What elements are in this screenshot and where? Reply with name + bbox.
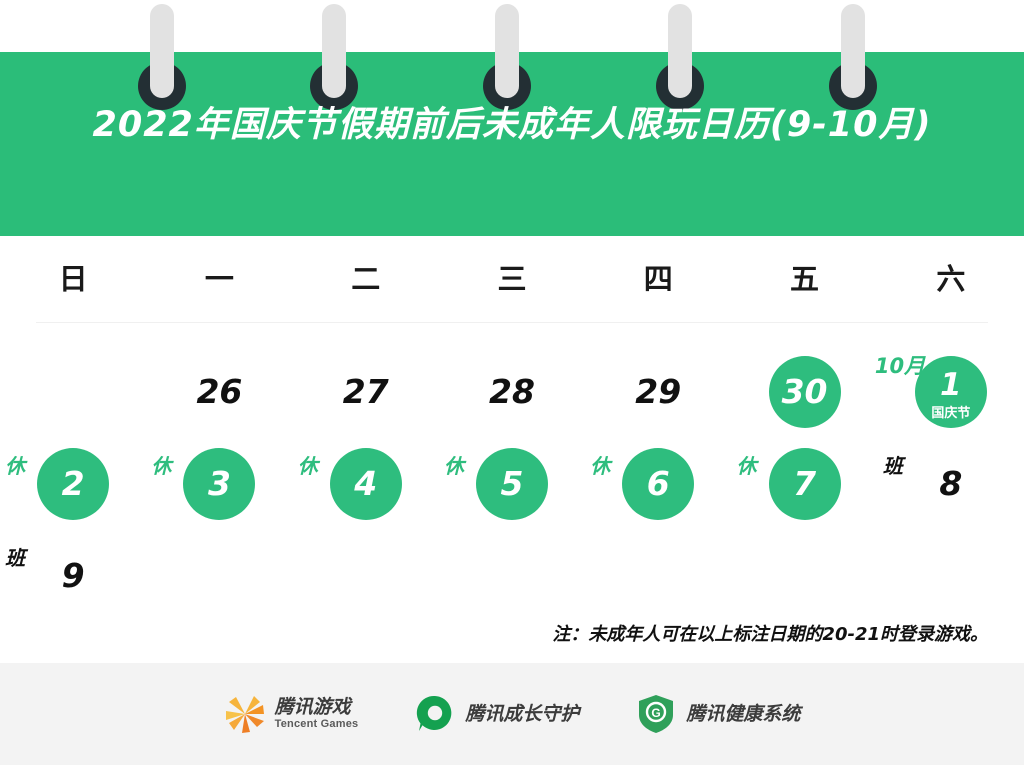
calendar-day-marker — [37, 356, 109, 428]
calendar-day-marker — [183, 540, 255, 612]
calendar-day-cell[interactable]: 休7 — [731, 438, 877, 530]
rest-day-badge: 休 — [151, 450, 171, 479]
calendar-body: 日 一 二 三 四 五 六 262728293010月1国庆节 休2休3休4休5… — [0, 236, 1024, 663]
tencent-health-system-shield-icon: G — [635, 693, 677, 735]
calendar-day-marker: 26 — [183, 356, 255, 428]
calendar-day-number: 26 — [183, 356, 255, 428]
calendar-day-marker: 休4 — [330, 448, 402, 520]
rest-day-badge: 休 — [444, 450, 464, 479]
rest-day-badge: 休 — [590, 450, 610, 479]
calendar-day-number: 7 — [769, 448, 841, 520]
calendar-week-row: 262728293010月1国庆节 — [0, 346, 1024, 438]
footer-logo-name-cn: 腾讯健康系统 — [686, 704, 800, 725]
calendar-day-marker — [330, 540, 402, 612]
footer-logo-text: 腾讯成长守护 — [465, 704, 579, 725]
weekday-wed: 三 — [439, 236, 585, 322]
footer-logo-name-cn: 腾讯成长守护 — [465, 704, 579, 725]
calendar-day-number: 27 — [330, 356, 402, 428]
holiday-name-label: 国庆节 — [915, 402, 987, 421]
calendar-empty-cell — [585, 530, 731, 622]
calendar-empty-cell — [439, 530, 585, 622]
weekday-sun: 日 — [0, 236, 146, 322]
calendar-day-cell[interactable]: 26 — [146, 346, 292, 438]
footer-logo[interactable]: 腾讯成长守护 — [414, 693, 579, 735]
weekday-header-row: 日 一 二 三 四 五 六 — [0, 236, 1024, 322]
calendar-day-number: 8 — [915, 448, 987, 520]
calendar-day-cell[interactable]: 10月1国庆节 — [878, 346, 1024, 438]
calendar-day-number: 29 — [622, 356, 694, 428]
calendar-day-number: 2 — [37, 448, 109, 520]
calendar-day-number: 6 — [622, 448, 694, 520]
calendar-day-marker: 班8 — [915, 448, 987, 520]
calendar-empty-cell — [0, 346, 146, 438]
footer-logo-text: 腾讯游戏Tencent Games — [275, 697, 359, 731]
tencent-growth-guardian-circle-icon — [414, 693, 456, 735]
calendar-day-marker: 30 — [769, 356, 841, 428]
calendar-day-marker — [769, 540, 841, 612]
svg-text:G: G — [652, 706, 661, 720]
calendar-day-marker: 休2 — [37, 448, 109, 520]
calendar-day-marker: 29 — [622, 356, 694, 428]
calendar-empty-cell — [878, 530, 1024, 622]
weekday-sat: 六 — [878, 236, 1024, 322]
tencent-games-starburst-icon — [224, 693, 266, 735]
weekday-mon: 一 — [146, 236, 292, 322]
month-tag-label: 10月 — [875, 350, 925, 380]
calendar-week-row: 休2休3休4休5休6休7班8 — [0, 438, 1024, 530]
calendar-day-number: 28 — [476, 356, 548, 428]
calendar-day-cell[interactable]: 30 — [731, 346, 877, 438]
calendar-day-marker — [915, 540, 987, 612]
calendar-day-cell[interactable]: 休6 — [585, 438, 731, 530]
calendar-day-number: 30 — [769, 356, 841, 428]
calendar-day-cell[interactable]: 休4 — [293, 438, 439, 530]
calendar-day-number: 5 — [476, 448, 548, 520]
calendar-week-row: 班9 — [0, 530, 1024, 622]
calendar-day-marker: 班9 — [37, 540, 109, 612]
footer-logo-bar: 腾讯游戏Tencent Games腾讯成长守护G腾讯健康系统 — [0, 663, 1024, 765]
rest-day-badge: 休 — [298, 450, 318, 479]
calendar-day-cell[interactable]: 休2 — [0, 438, 146, 530]
calendar-day-cell[interactable]: 28 — [439, 346, 585, 438]
calendar-empty-cell — [731, 530, 877, 622]
calendar-day-marker: 28 — [476, 356, 548, 428]
calendar-day-marker: 休3 — [183, 448, 255, 520]
calendar-day-cell[interactable]: 班8 — [878, 438, 1024, 530]
calendar-day-marker: 10月1国庆节 — [915, 356, 987, 428]
calendar-day-cell[interactable]: 休3 — [146, 438, 292, 530]
rest-day-badge: 休 — [5, 450, 25, 479]
footer-logo[interactable]: G腾讯健康系统 — [635, 693, 800, 735]
calendar-day-marker: 休7 — [769, 448, 841, 520]
footer-logo-name-cn: 腾讯游戏 — [275, 697, 359, 718]
weekday-thu: 四 — [585, 236, 731, 322]
footer-logo[interactable]: 腾讯游戏Tencent Games — [224, 693, 359, 735]
calendar-day-marker — [622, 540, 694, 612]
calendar-day-number: 4 — [330, 448, 402, 520]
footnote-text: 注：未成年人可在以上标注日期的20-21时登录游戏。 — [0, 620, 988, 646]
calendar-day-number: 3 — [183, 448, 255, 520]
calendar-empty-cell — [146, 530, 292, 622]
work-day-badge: 班 — [5, 542, 25, 571]
page-title: 2022年国庆节假期前后未成年人限玩日历(9-10月) — [0, 96, 1024, 147]
calendar-empty-cell — [293, 530, 439, 622]
calendar-day-number: 9 — [37, 540, 109, 612]
calendar-day-marker: 27 — [330, 356, 402, 428]
calendar-day-cell[interactable]: 班9 — [0, 530, 146, 622]
work-day-badge: 班 — [883, 450, 903, 479]
weekday-fri: 五 — [731, 236, 877, 322]
header-divider — [36, 322, 988, 323]
footer-logo-text: 腾讯健康系统 — [686, 704, 800, 725]
calendar-day-marker: 休6 — [622, 448, 694, 520]
calendar-day-marker — [476, 540, 548, 612]
calendar-day-cell[interactable]: 29 — [585, 346, 731, 438]
footer-logo-name-en: Tencent Games — [275, 718, 359, 731]
rest-day-badge: 休 — [737, 450, 757, 479]
weekday-tue: 二 — [293, 236, 439, 322]
calendar-day-cell[interactable]: 休5 — [439, 438, 585, 530]
calendar-day-marker: 休5 — [476, 448, 548, 520]
calendar-day-cell[interactable]: 27 — [293, 346, 439, 438]
